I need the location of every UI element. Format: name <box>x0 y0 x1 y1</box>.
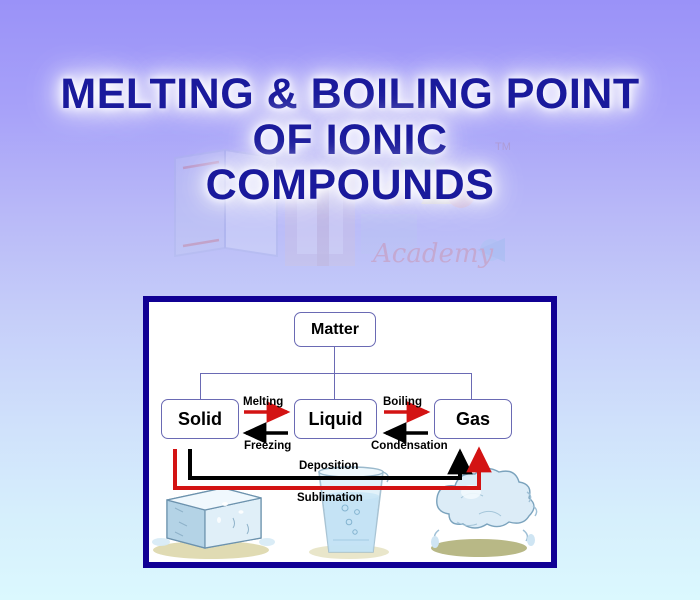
node-liquid[interactable]: Liquid <box>294 399 377 439</box>
page-title: MELTING & BOILING POINT OF IONIC COMPOUN… <box>0 72 700 209</box>
node-gas-label: Gas <box>456 409 490 430</box>
states-of-matter-diagram: Matter Solid Liquid Gas Melting Freezing… <box>149 302 551 562</box>
title-line-3: COMPOUNDS <box>0 163 700 209</box>
node-liquid-label: Liquid <box>309 409 363 430</box>
label-boiling: Boiling <box>383 396 422 408</box>
node-solid-label: Solid <box>178 409 222 430</box>
label-condensation: Condensation <box>371 440 448 452</box>
title-line-2: OF IONIC <box>0 118 700 164</box>
label-melting: Melting <box>243 396 283 408</box>
node-matter-label: Matter <box>311 321 359 339</box>
label-sublimation: Sublimation <box>297 492 363 504</box>
node-solid[interactable]: Solid <box>161 399 239 439</box>
label-freezing: Freezing <box>244 440 291 452</box>
diagram-frame: Matter Solid Liquid Gas Melting Freezing… <box>143 296 557 568</box>
node-gas[interactable]: Gas <box>434 399 512 439</box>
label-deposition: Deposition <box>299 460 358 472</box>
node-matter[interactable]: Matter <box>294 312 376 347</box>
title-line-1: MELTING & BOILING POINT <box>0 72 700 118</box>
poster-canvas: Academy TM MELTING & BOILING POINT OF IO… <box>0 0 700 600</box>
watermark-script-text: Academy <box>371 239 494 269</box>
